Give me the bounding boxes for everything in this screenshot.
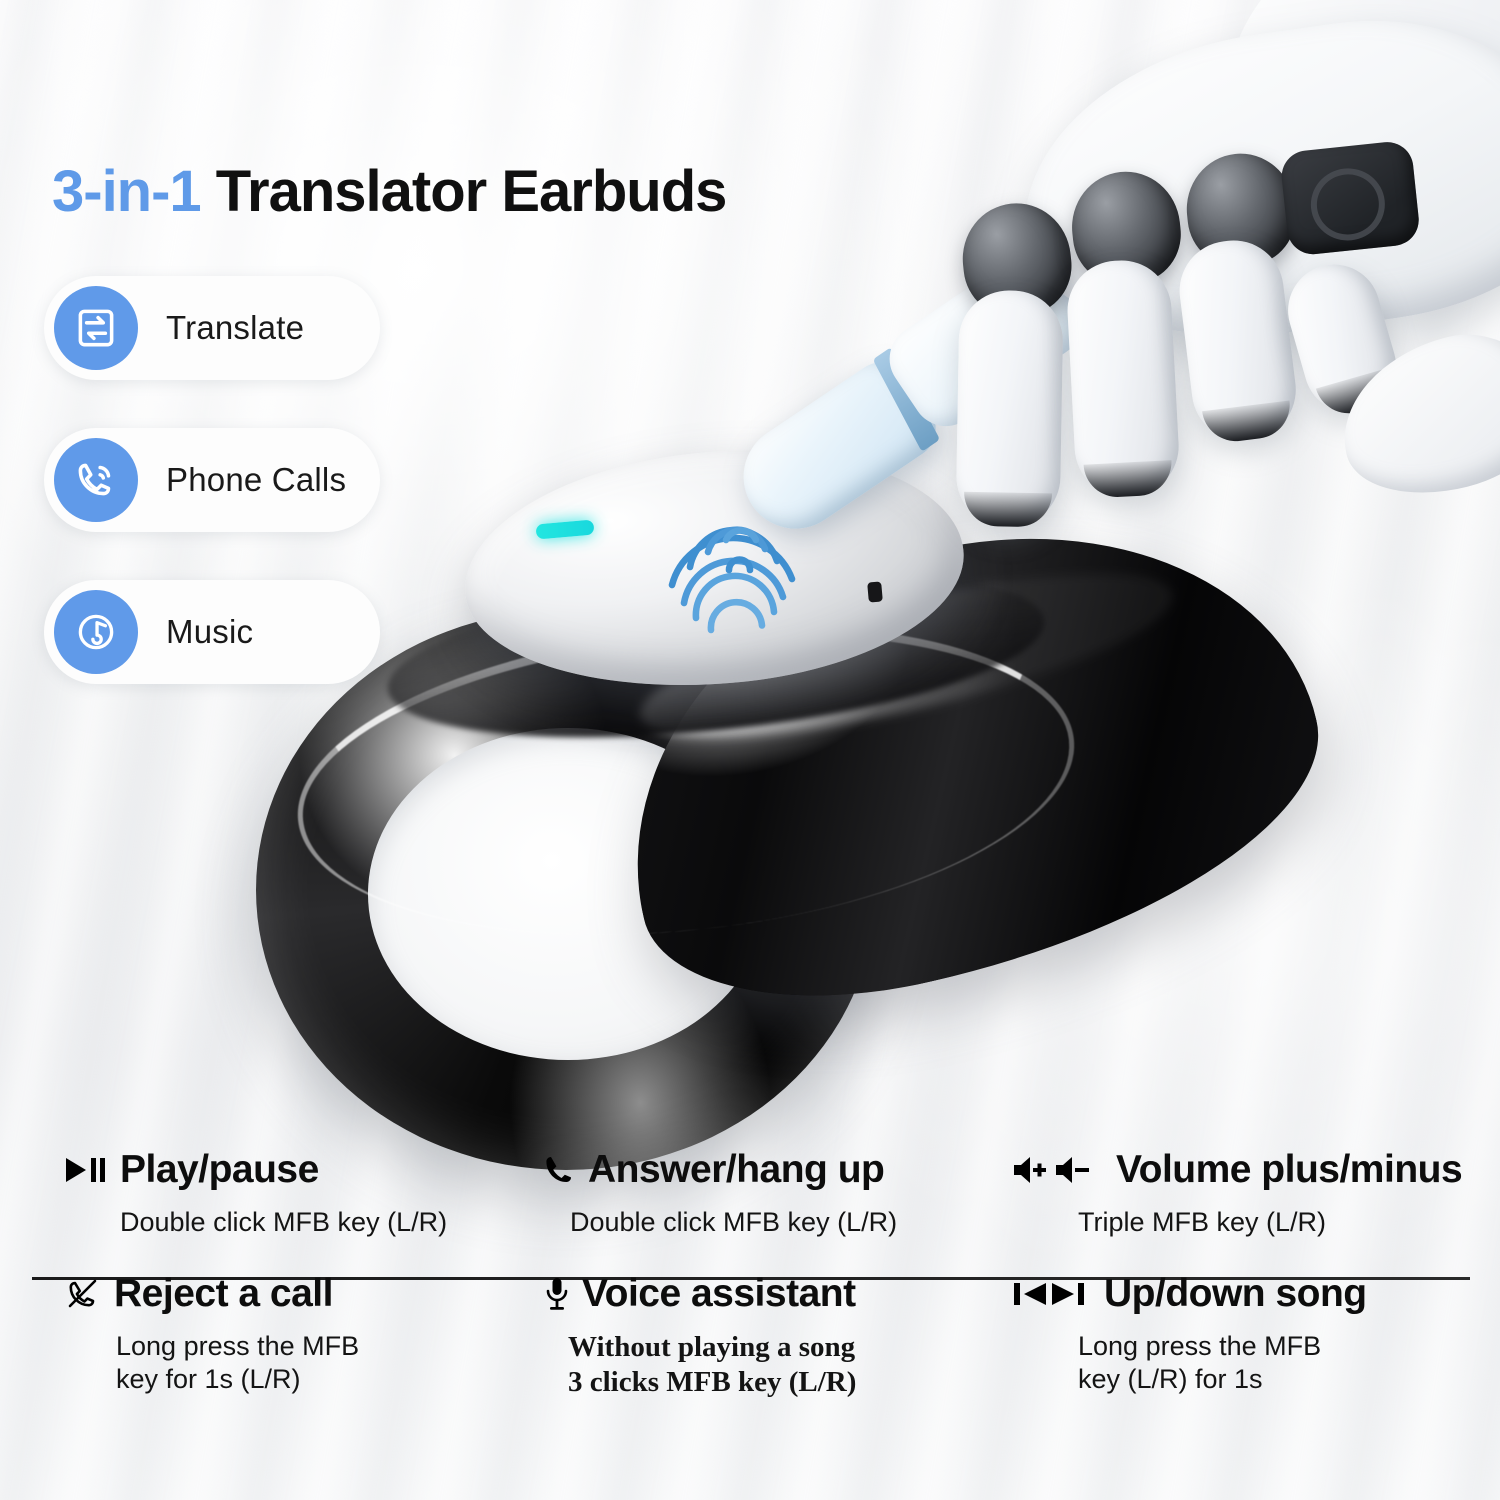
control-description: Long press the MFB key for 1s (L/R) <box>42 1330 522 1396</box>
control-title-row: Voice assistant <box>522 1272 1012 1316</box>
control-title-row: Volume plus/minus <box>1012 1148 1462 1192</box>
control-row-1: Play/pause Double click MFB key (L/R) An… <box>42 1148 1462 1239</box>
robot-hand-illustration <box>900 40 1500 600</box>
control-title: Up/down song <box>1104 1272 1367 1316</box>
control-item-up-down-song: Up/down song Long press the MFB key (L/R… <box>1012 1272 1462 1401</box>
feature-pill-list: Translate Phone Calls Music <box>44 276 380 732</box>
feature-pill-label: Music <box>166 613 253 651</box>
control-item-play-pause: Play/pause Double click MFB key (L/R) <box>42 1148 522 1239</box>
control-title-row: Play/pause <box>42 1148 522 1192</box>
feature-pill-translate[interactable]: Translate <box>44 276 380 380</box>
control-item-volume: Volume plus/minus Triple MFB key (L/R) <box>1012 1148 1462 1239</box>
control-title: Answer/hang up <box>588 1148 884 1192</box>
control-title-row: Reject a call <box>42 1272 522 1316</box>
feature-pill-phone-calls[interactable]: Phone Calls <box>44 428 380 532</box>
title-rest: Translator Earbuds <box>201 159 727 224</box>
control-title-row: Answer/hang up <box>522 1148 1012 1192</box>
robot-finger <box>1065 258 1181 499</box>
robot-finger <box>956 290 1064 528</box>
translate-icon <box>54 286 138 370</box>
control-description: Double click MFB key (L/R) <box>42 1206 522 1239</box>
page-title: 3-in-1 Translator Earbuds <box>52 158 726 225</box>
control-instruction-grid: Play/pause Double click MFB key (L/R) An… <box>42 1148 1462 1401</box>
control-description: Long press the MFB key (L/R) for 1s <box>1012 1330 1462 1396</box>
control-row-2: Reject a call Long press the MFB key for… <box>42 1272 1462 1401</box>
product-infographic: 3-in-1 Translator Earbuds <box>0 0 1500 1500</box>
title-accent: 3-in-1 <box>52 159 201 224</box>
microphone-icon <box>544 1276 570 1312</box>
robot-finger <box>1174 235 1302 446</box>
play-pause-icon <box>64 1155 108 1185</box>
control-title: Voice assistant <box>582 1272 856 1316</box>
robot-finger-tip <box>1084 460 1173 499</box>
control-description: Double click MFB key (L/R) <box>522 1206 1012 1239</box>
control-title-row: Up/down song <box>1012 1272 1462 1316</box>
control-item-reject-call: Reject a call Long press the MFB key for… <box>42 1272 522 1401</box>
phone-call-icon <box>54 438 138 522</box>
control-title: Volume plus/minus <box>1116 1148 1462 1192</box>
control-description: Triple MFB key (L/R) <box>1012 1206 1462 1239</box>
volume-plus-minus-icon <box>1012 1154 1104 1186</box>
control-item-voice-assistant: Voice assistant Without playing a song 3… <box>522 1272 1012 1401</box>
feature-pill-music[interactable]: Music <box>44 580 380 684</box>
phone-handset-icon <box>542 1153 576 1187</box>
track-skip-icon <box>1012 1279 1092 1309</box>
control-description: Without playing a song 3 clicks MFB key … <box>522 1330 1012 1401</box>
feature-pill-label: Translate <box>166 309 304 347</box>
control-item-answer-hangup: Answer/hang up Double click MFB key (L/R… <box>522 1148 1012 1239</box>
control-title: Play/pause <box>120 1148 319 1192</box>
phone-reject-icon <box>64 1277 102 1311</box>
microphone-hole-icon <box>867 581 883 602</box>
robot-finger-tip <box>1202 401 1293 445</box>
feature-pill-label: Phone Calls <box>166 461 346 499</box>
music-note-icon <box>54 590 138 674</box>
control-title: Reject a call <box>114 1272 333 1316</box>
robot-finger-tip <box>964 492 1052 528</box>
